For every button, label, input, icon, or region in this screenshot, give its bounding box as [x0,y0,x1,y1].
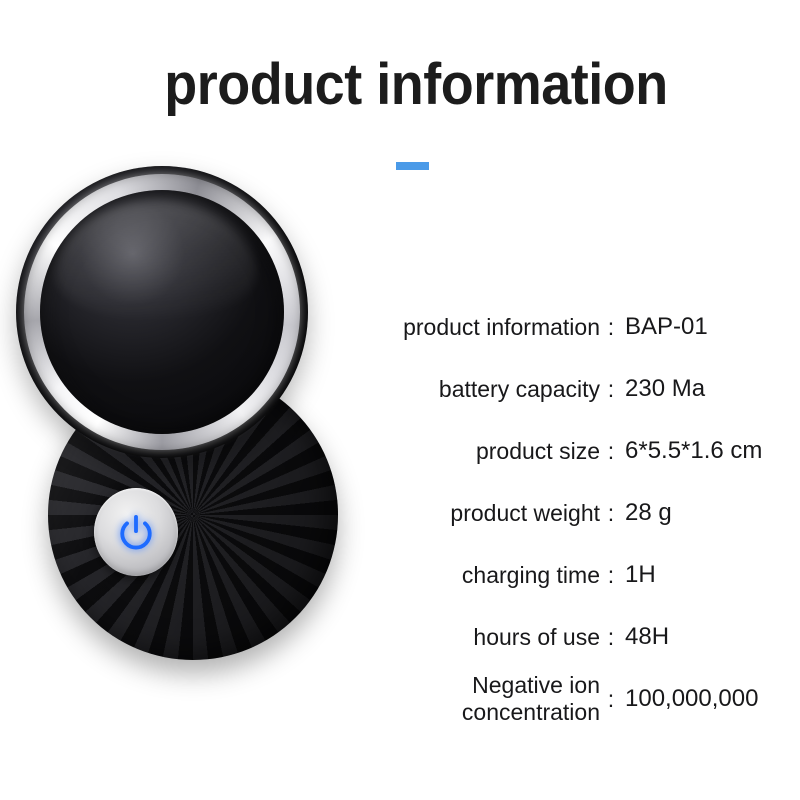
spec-colon: : [600,562,622,589]
spec-colon: : [600,438,622,465]
spec-value: 230 Ma [622,375,790,403]
spec-value: BAP-01 [622,313,790,341]
device-inner-face [40,190,284,434]
spec-row: product information : BAP-01 [360,296,790,358]
title-accent-bar [396,162,429,170]
spec-colon: : [600,624,622,651]
page-title: product information [118,55,713,116]
spec-list: product information : BAP-01 battery cap… [360,296,790,730]
spec-label: Negative ion concentration [360,672,600,725]
spec-value: 1H [622,561,790,589]
header: product information [0,0,800,190]
spec-label: product information [360,314,600,341]
spec-row: product weight : 28 g [360,482,790,544]
spec-row: battery capacity : 230 Ma [360,358,790,420]
spec-value: 48H [622,623,790,651]
spec-row: charging time : 1H [360,544,790,606]
spec-row: hours of use : 48H [360,606,790,668]
spec-label: hours of use [360,624,600,651]
spec-label: product weight [360,500,600,527]
spec-value: 28 g [622,499,790,527]
spec-label: charging time [360,562,600,589]
spec-colon: : [600,500,622,527]
spec-label: product size [360,438,600,465]
power-button[interactable] [94,488,178,576]
power-icon [114,510,158,554]
spec-row: product size : 6*5.5*1.6 cm [360,420,790,482]
spec-colon: : [600,376,622,403]
spec-colon: : [600,686,622,713]
spec-value: 100,000,000 [622,685,790,713]
spec-label: battery capacity [360,376,600,403]
spec-value: 6*5.5*1.6 cm [622,437,790,465]
spec-colon: : [600,314,622,341]
spec-row: Negative ion concentration : 100,000,000 [360,668,790,730]
